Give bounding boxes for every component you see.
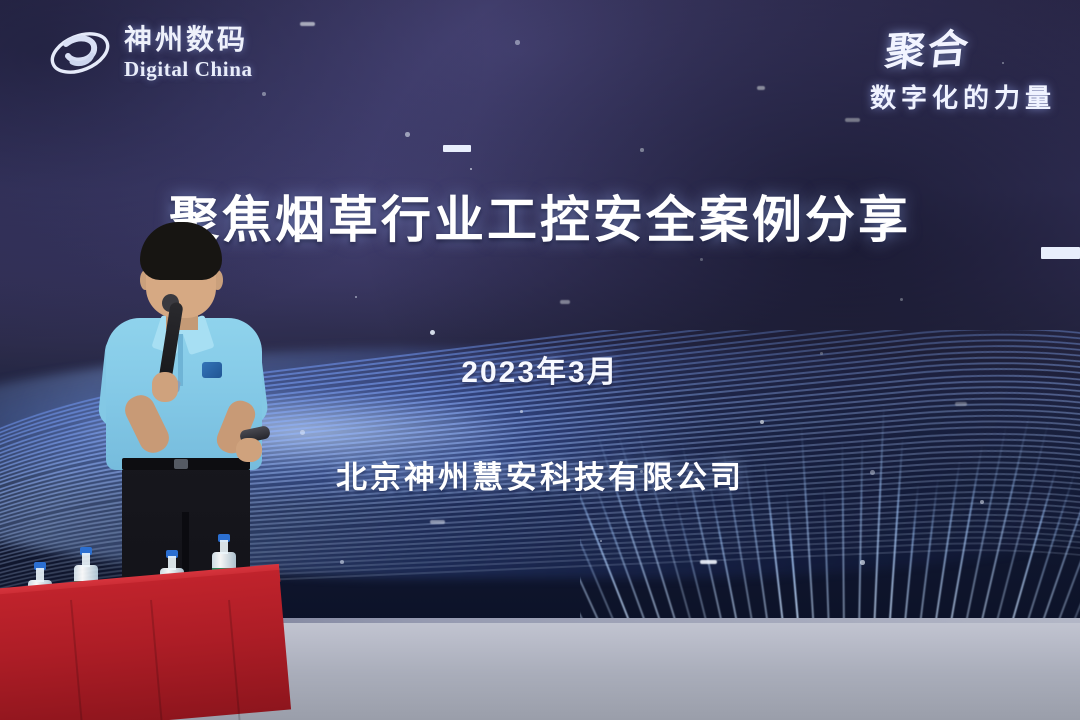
polo-chest-logo (202, 362, 222, 378)
speaker-hair (140, 222, 222, 280)
accent-bar-left (443, 145, 471, 152)
brand-logo: 神州数码 Digital China (48, 22, 253, 84)
speaker-hand-left (152, 372, 178, 402)
slogan-subtitle: 数字化的力量 (870, 78, 1056, 115)
brand-name-en: Digital China (124, 59, 253, 80)
event-slogan: 聚合 数字化的力量 (870, 18, 1056, 115)
red-table-drape (0, 570, 291, 720)
light-fan-graphic (580, 398, 1080, 628)
conference-stage-photo: 神州数码 Digital China 聚合 数字化的力量 聚焦烟草行业工控安全案… (0, 0, 1080, 720)
speaker-hand-right (236, 438, 262, 462)
brand-name-cn: 神州数码 (124, 26, 253, 54)
digital-china-swirl-icon (48, 22, 112, 84)
slogan-calligraphy: 聚合 (883, 16, 974, 78)
